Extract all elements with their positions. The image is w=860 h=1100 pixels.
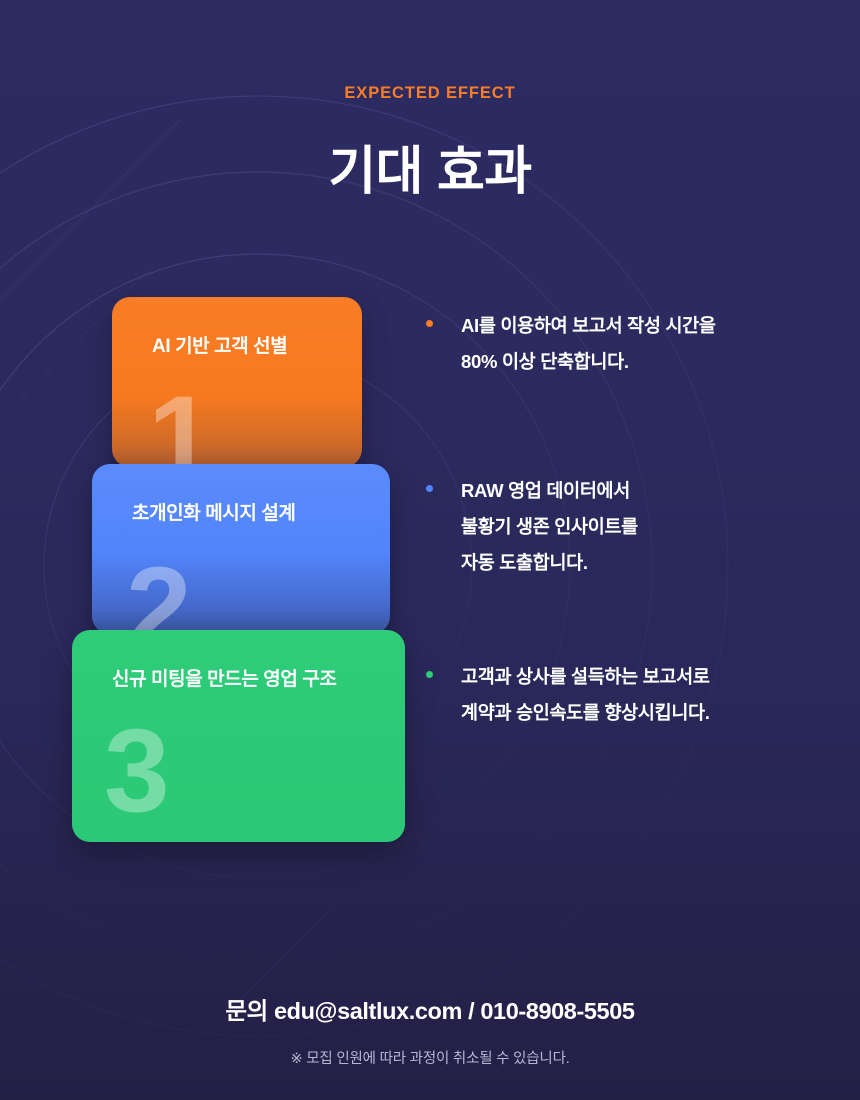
benefit-item-3-text: 고객과 상사를 설득하는 보고서로 계약과 승인속도를 향상시킵니다.	[461, 659, 710, 731]
benefit-item-2-line-1: RAW 영업 데이터에서	[461, 473, 638, 509]
contact-info[interactable]: 문의 edu@saltlux.com / 010-8908-5505	[0, 992, 860, 1026]
benefit-item-3-line-1: 고객과 상사를 설득하는 보고서로	[461, 659, 710, 695]
step-card-1-number: 1	[148, 379, 212, 467]
benefit-item-3-line-2: 계약과 승인속도를 향상시킵니다.	[461, 695, 710, 731]
benefit-item-2-line-2: 불황기 생존 인사이트를	[461, 509, 638, 545]
bullet-dot-icon	[426, 671, 433, 678]
benefit-item-1-text: AI를 이용하여 보고서 작성 시간을 80% 이상 단축합니다.	[461, 308, 716, 380]
step-card-2-number: 2	[126, 550, 190, 634]
benefit-item-1-line-1: AI를 이용하여 보고서 작성 시간을	[461, 308, 716, 344]
step-card-stack: AI 기반 고객 선별 1 초개인화 메시지 설계 2 신규 미팅을 만드는 영…	[0, 0, 420, 1100]
benefit-item-2: RAW 영업 데이터에서 불황기 생존 인사이트를 자동 도출합니다.	[426, 473, 638, 581]
bullet-dot-icon	[426, 485, 433, 492]
step-card-1-title: AI 기반 고객 선별	[152, 331, 287, 358]
step-card-2-title: 초개인화 메시지 설계	[132, 498, 295, 525]
benefit-item-2-text: RAW 영업 데이터에서 불황기 생존 인사이트를 자동 도출합니다.	[461, 473, 638, 581]
benefit-list: AI를 이용하여 보고서 작성 시간을 80% 이상 단축합니다. RAW 영업…	[420, 0, 860, 1100]
step-card-1[interactable]: AI 기반 고객 선별 1	[112, 297, 362, 467]
benefit-item-2-line-3: 자동 도출합니다.	[461, 545, 638, 581]
step-card-3-number: 3	[104, 712, 168, 830]
step-card-2[interactable]: 초개인화 메시지 설계 2	[92, 464, 390, 634]
benefit-item-1-line-2: 80% 이상 단축합니다.	[461, 344, 716, 380]
benefit-item-1: AI를 이용하여 보고서 작성 시간을 80% 이상 단축합니다.	[426, 308, 716, 380]
benefit-item-3: 고객과 상사를 설득하는 보고서로 계약과 승인속도를 향상시킵니다.	[426, 659, 710, 731]
step-card-3[interactable]: 신규 미팅을 만드는 영업 구조 3	[72, 630, 405, 842]
poster-canvas: EXPECTED EFFECT 기대 효과 AI 기반 고객 선별 1 초개인화…	[0, 0, 860, 1100]
disclaimer-note: ※ 모집 인원에 따라 과정이 취소될 수 있습니다.	[0, 1047, 860, 1068]
step-card-3-title: 신규 미팅을 만드는 영업 구조	[112, 664, 336, 691]
bullet-dot-icon	[426, 320, 433, 327]
poster-footer: 문의 edu@saltlux.com / 010-8908-5505 ※ 모집 …	[0, 992, 860, 1100]
